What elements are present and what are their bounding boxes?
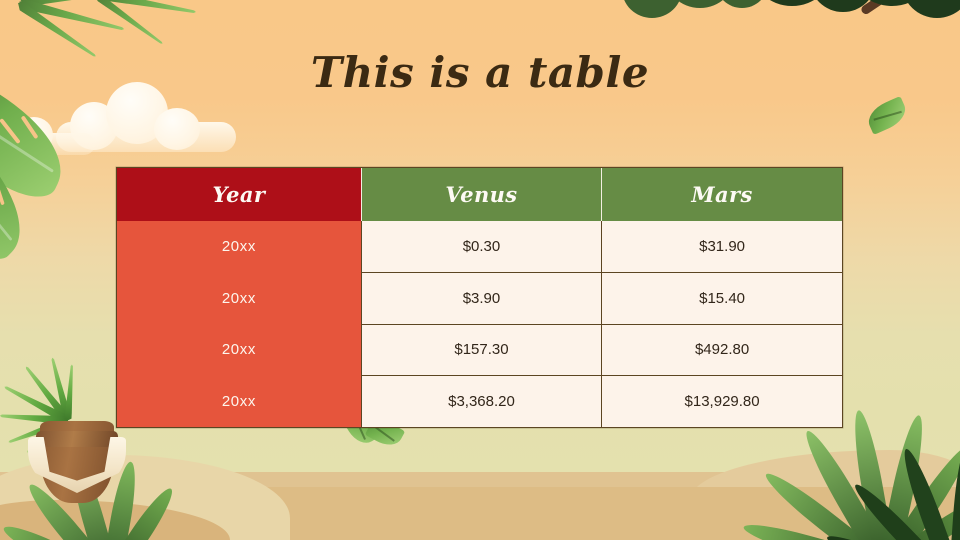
cell-venus: $3.90 bbox=[361, 273, 601, 325]
cell-year: 20xx bbox=[117, 376, 361, 428]
cell-mars: $13,929.80 bbox=[602, 376, 842, 428]
floating-leaf-right bbox=[864, 96, 911, 135]
table-row: 20xx $3.90 $15.40 bbox=[117, 273, 842, 325]
cell-mars: $15.40 bbox=[602, 273, 842, 325]
column-header-mars: Mars bbox=[602, 168, 842, 221]
cell-year: 20xx bbox=[117, 324, 361, 376]
table-row: 20xx $157.30 $492.80 bbox=[117, 324, 842, 376]
cell-year: 20xx bbox=[117, 221, 361, 273]
cell-mars: $492.80 bbox=[602, 324, 842, 376]
page-title: This is a table bbox=[0, 48, 960, 97]
fan-palm-bottom-right-dark bbox=[888, 440, 960, 540]
data-table: Year Venus Mars 20xx $0.30 $31.90 20xx $… bbox=[117, 168, 842, 427]
table-row: 20xx $3,368.20 $13,929.80 bbox=[117, 376, 842, 428]
slide-canvas: This is a table Year Venus Mars 20xx $0.… bbox=[0, 0, 960, 540]
table-header-row: Year Venus Mars bbox=[117, 168, 842, 221]
cell-venus: $3,368.20 bbox=[361, 376, 601, 428]
column-header-venus: Venus bbox=[361, 168, 601, 221]
cell-venus: $157.30 bbox=[361, 324, 601, 376]
column-header-year: Year bbox=[117, 168, 361, 221]
banana-leaves-left-group bbox=[0, 96, 122, 256]
table-row: 20xx $0.30 $31.90 bbox=[117, 221, 842, 273]
cell-venus: $0.30 bbox=[361, 221, 601, 273]
cell-year: 20xx bbox=[117, 273, 361, 325]
cell-mars: $31.90 bbox=[602, 221, 842, 273]
data-table-container: Year Venus Mars 20xx $0.30 $31.90 20xx $… bbox=[116, 167, 843, 428]
